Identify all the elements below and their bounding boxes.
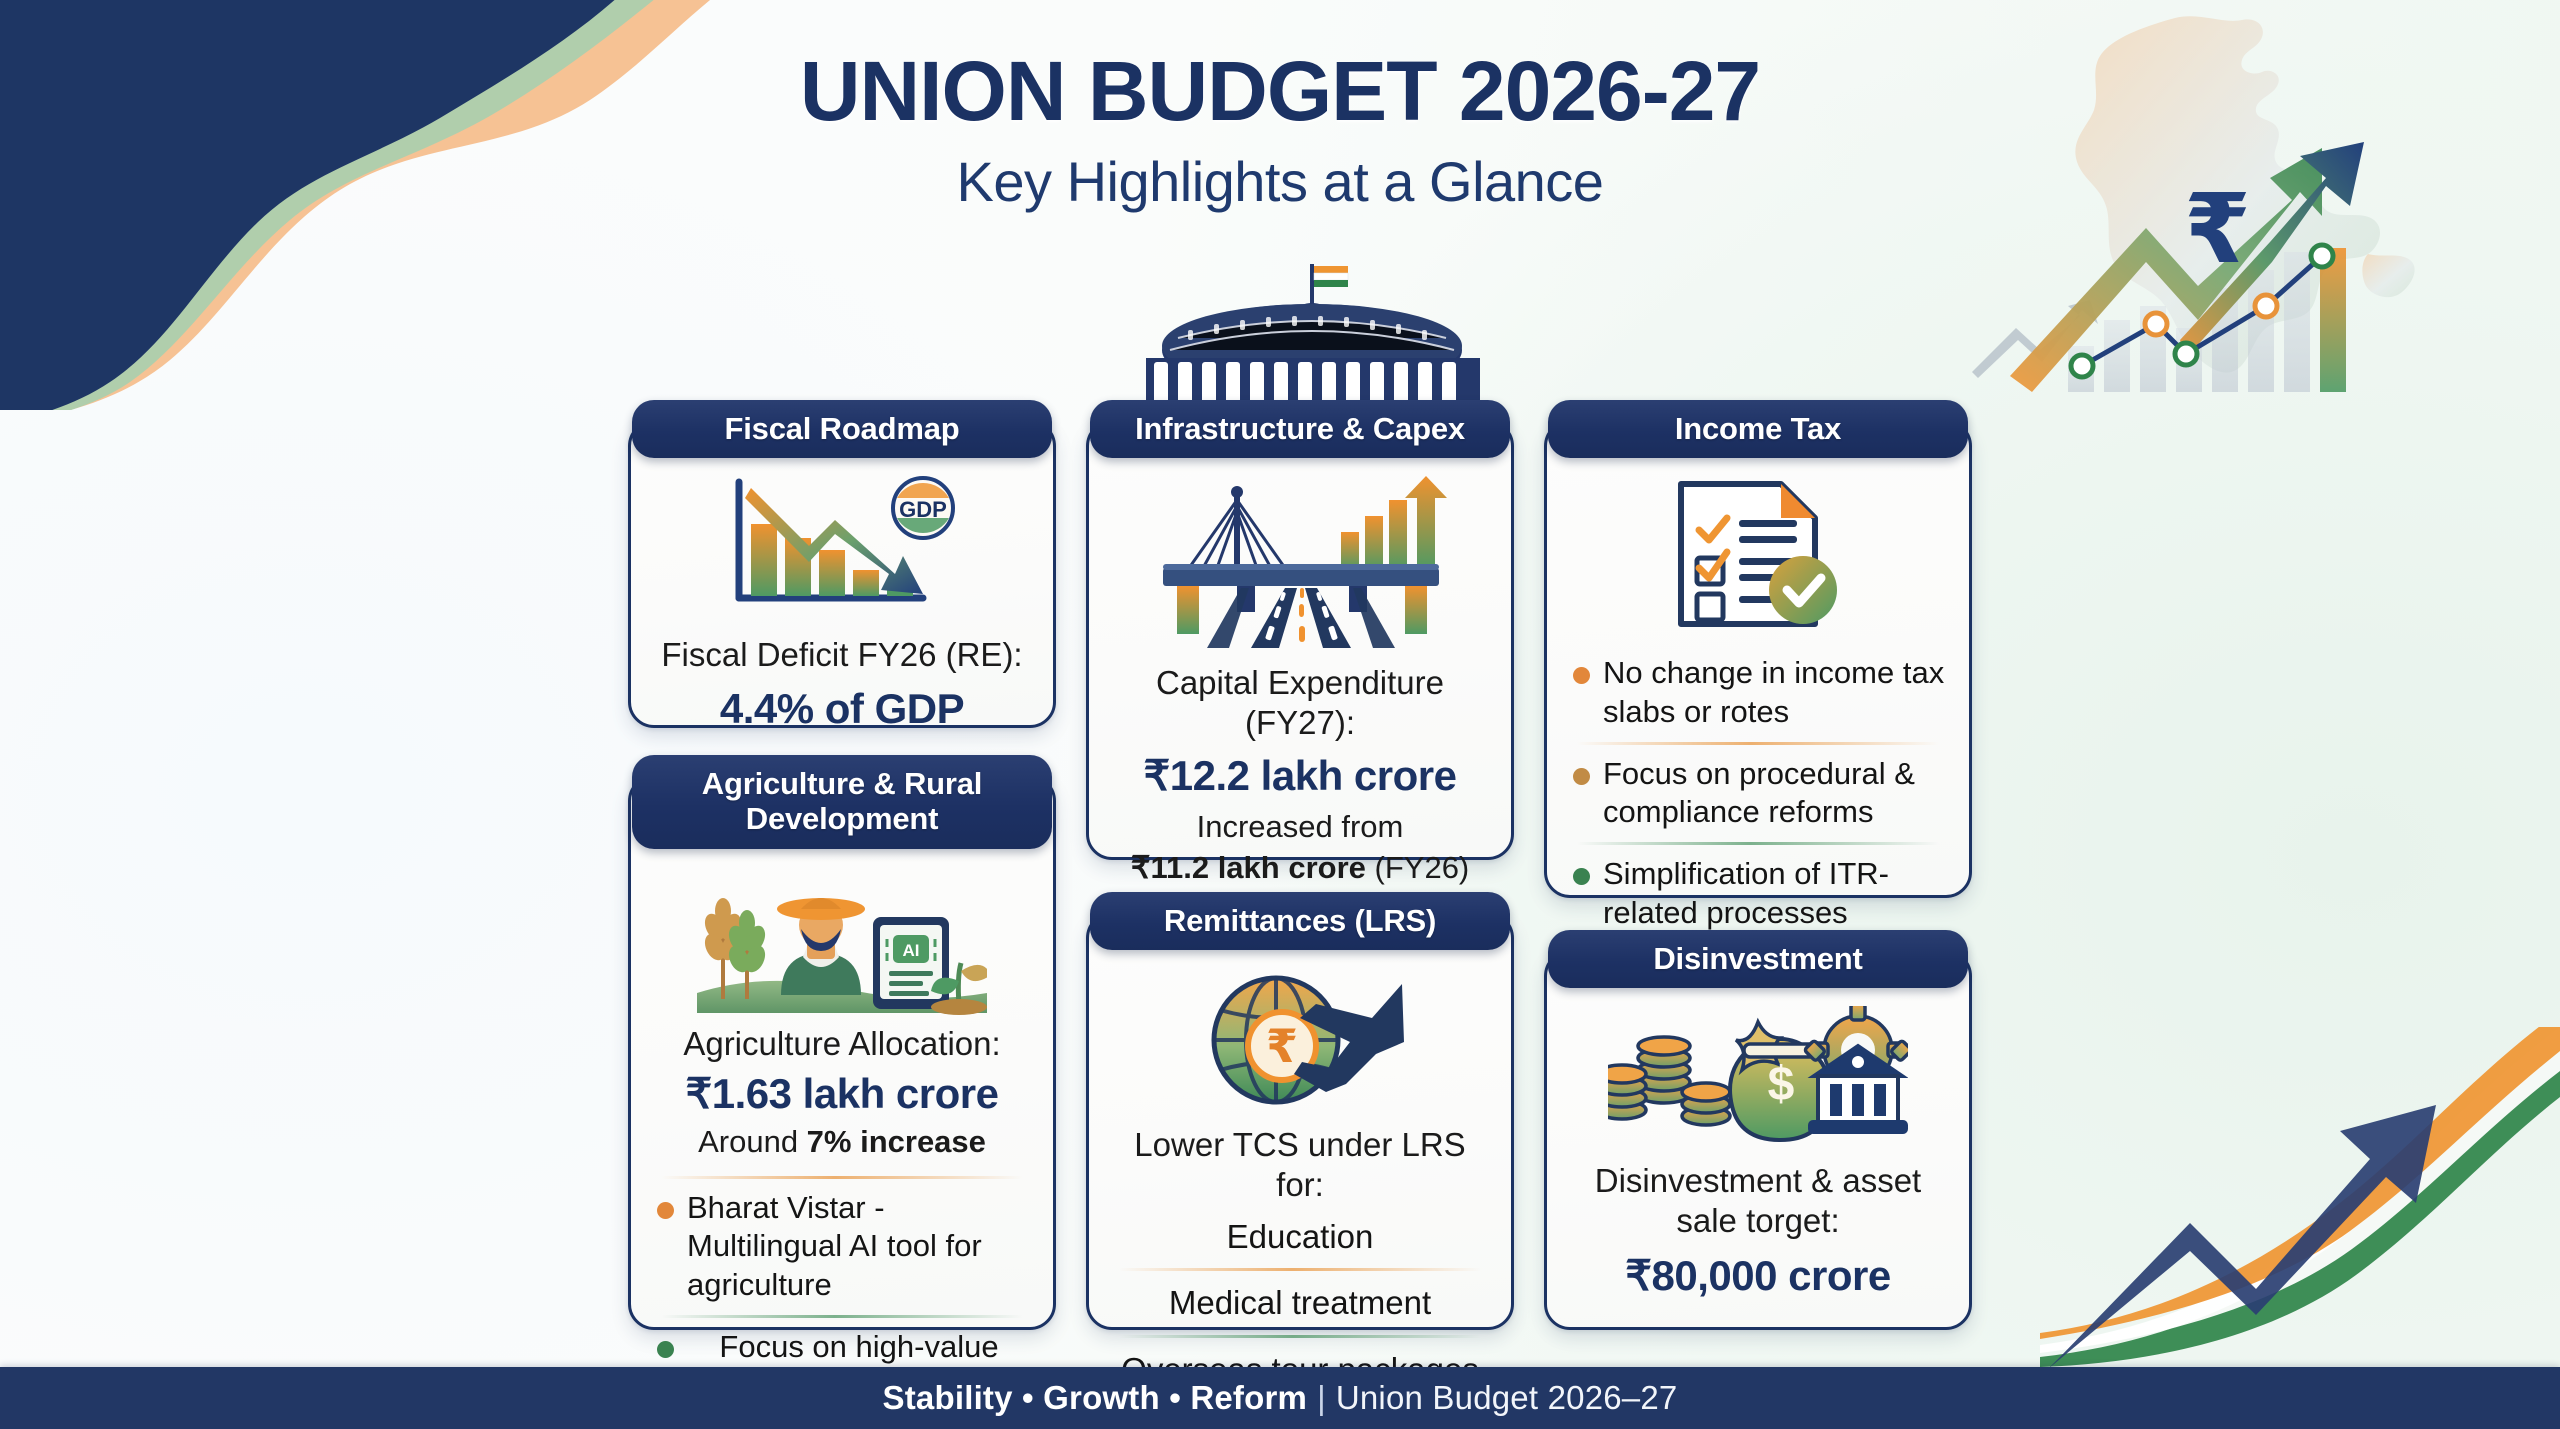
card-title-infrastructure: Infrastructure & Capex (1135, 412, 1465, 447)
infrastructure-label: Capital Expenditure (FY27): (1111, 663, 1489, 744)
footer-text: Stability • Growth • Reform|Union Budget… (883, 1379, 1678, 1417)
bullet-dot-icon (657, 1202, 674, 1219)
infrastructure-illustration (1145, 475, 1455, 653)
infrastructure-note-prefix: Increased from (1197, 808, 1404, 847)
card-income-tax[interactable]: No change in income tax slabs or rotes F… (1544, 420, 1972, 898)
infographic-canvas: ₹ UNION BUDGET 2026-27 Key Highlights at… (0, 0, 2560, 1429)
infrastructure-note-value: ₹11.2 lakh crore (1131, 850, 1366, 885)
card-header-infrastructure[interactable]: Infrastructure & Capex (1090, 400, 1510, 458)
disinvestment-label: Disinvestment & asset sale torget: (1569, 1161, 1947, 1242)
separator-orange (1577, 742, 1940, 745)
fiscal-chart-illustration: GDP (717, 471, 967, 621)
card-header-fiscal-roadmap[interactable]: Fiscal Roadmap (632, 400, 1052, 458)
svg-text:GDP: GDP (899, 497, 947, 522)
remittances-illustration: ₹ (1190, 963, 1410, 1113)
disinvestment-illustration: $ (1608, 1005, 1908, 1147)
card-fiscal-roadmap[interactable]: GDP Fiscal Deficit FY26 (RE): 4.4% of GD… (628, 420, 1056, 728)
infrastructure-note: ₹11.2 lakh crore (FY26) (1131, 849, 1470, 888)
bottom-right-ribbon-decoration (2040, 1027, 2560, 1367)
separator-orange (661, 1176, 1024, 1179)
card-disinvestment[interactable]: $ (1544, 950, 1972, 1330)
disinvestment-value: ₹80,000 crore (1625, 1252, 1890, 1301)
list-item: Medical treatment (1111, 1274, 1489, 1332)
agriculture-increase: Around 7% increase (698, 1123, 986, 1162)
fiscal-value: 4.4% of GDP (720, 685, 964, 734)
bullet-dot-icon (657, 1341, 674, 1358)
infrastructure-note-suffix: (FY26) (1375, 850, 1470, 885)
page-subtitle: Key Highlights at a Glance (0, 149, 2560, 214)
bullet-text: Simplification of ITR-related processes (1603, 855, 1947, 933)
card-header-agriculture[interactable]: Agriculture & Rural Development (632, 755, 1052, 849)
remittances-label: Lower TCS under LRS for: (1111, 1125, 1489, 1206)
svg-text:$: $ (1768, 1058, 1795, 1111)
card-title-agriculture: Agriculture & Rural Development (658, 767, 1026, 836)
list-item: Education (1111, 1208, 1489, 1266)
footer-tagline: Stability • Growth • Reform (883, 1379, 1308, 1416)
list-item: Simplification of ITR-related processes (1569, 848, 1947, 940)
agriculture-illustration: AI (697, 866, 987, 1016)
separator-green (1119, 1335, 1482, 1338)
separator-green (661, 1315, 1024, 1318)
list-item: Bharat Vistar - Multilingual AI tool for… (653, 1182, 1031, 1312)
footer-divider: | (1317, 1379, 1326, 1416)
list-item: No change in income tax slabs or rotes (1569, 647, 1947, 739)
agriculture-label: Agriculture Allocation: (683, 1024, 1000, 1064)
title-block: UNION BUDGET 2026-27 Key Highlights at a… (0, 48, 2560, 214)
card-title-fiscal-roadmap: Fiscal Roadmap (725, 412, 960, 447)
income-tax-bullet-list: No change in income tax slabs or rotes F… (1569, 647, 1947, 940)
card-header-disinvestment[interactable]: Disinvestment (1548, 930, 1968, 988)
bullet-dot-icon (1573, 868, 1590, 885)
card-header-income-tax[interactable]: Income Tax (1548, 400, 1968, 458)
separator-orange (1119, 1268, 1482, 1271)
bullet-text: Focus on procedural & compliance reforms (1603, 755, 1947, 833)
bullet-text: No change in income tax slabs or rotes (1603, 654, 1947, 732)
footer-source: Union Budget 2026–27 (1336, 1379, 1678, 1416)
agriculture-increase-prefix: Around (698, 1124, 807, 1159)
bullet-dot-icon (1573, 768, 1590, 785)
card-agriculture[interactable]: AI Agriculture (628, 775, 1056, 1330)
bullet-text: Bharat Vistar - Multilingual AI tool for… (687, 1189, 1031, 1305)
agriculture-increase-value: 7% increase (807, 1124, 986, 1159)
card-title-disinvestment: Disinvestment (1653, 942, 1862, 977)
bullet-dot-icon (1573, 667, 1590, 684)
infrastructure-value: ₹12.2 lakh crore (1144, 752, 1457, 801)
svg-text:₹: ₹ (1266, 1019, 1298, 1073)
card-infrastructure[interactable]: Capital Expenditure (FY27): ₹12.2 lakh c… (1086, 420, 1514, 860)
card-title-remittances: Remittances (LRS) (1164, 904, 1436, 939)
separator-green (1577, 842, 1940, 845)
page-title: UNION BUDGET 2026-27 (0, 48, 2560, 135)
card-header-remittances[interactable]: Remittances (LRS) (1090, 892, 1510, 950)
card-remittances[interactable]: ₹ Lower TCS under LRS for: Education Med… (1086, 912, 1514, 1330)
income-tax-illustration (1663, 473, 1853, 633)
list-item: Focus on procedural & compliance reforms (1569, 748, 1947, 840)
agriculture-value: ₹1.63 lakh crore (686, 1070, 999, 1119)
footer-bar: Stability • Growth • Reform|Union Budget… (0, 1367, 2560, 1429)
fiscal-label: Fiscal Deficit FY26 (RE): (661, 635, 1022, 675)
svg-text:AI: AI (903, 941, 920, 960)
card-title-income-tax: Income Tax (1675, 412, 1841, 447)
